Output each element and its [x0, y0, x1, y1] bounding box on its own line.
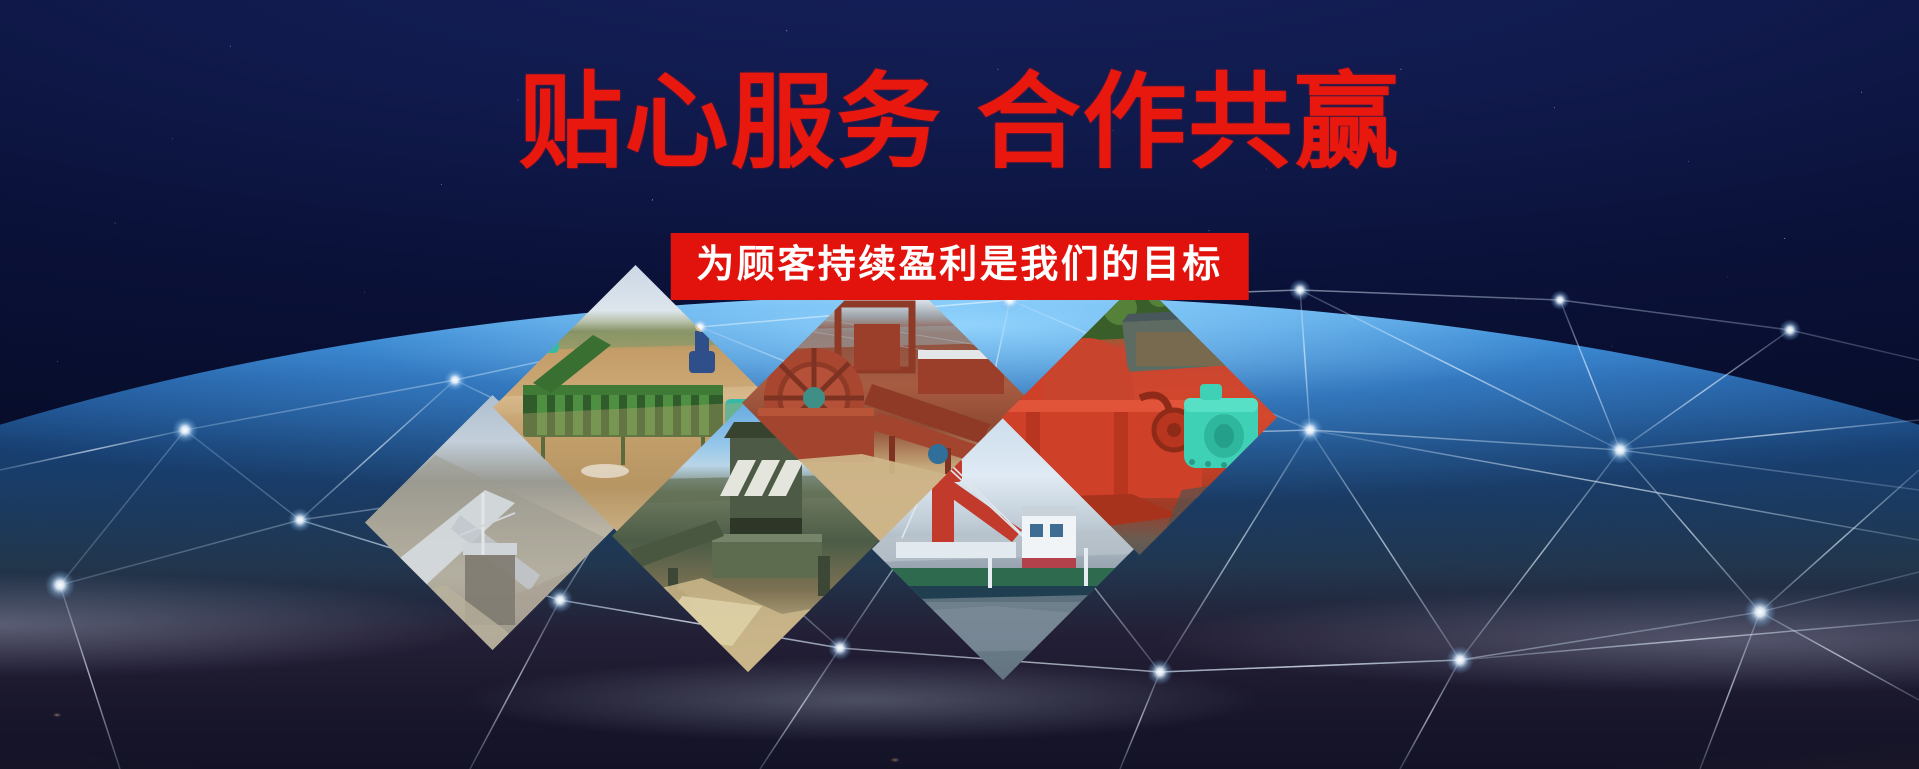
headline-part2: 合作共赢 [977, 61, 1401, 183]
subtitle-banner: 为顾客持续盈利是我们的目标 [670, 233, 1249, 300]
hero-banner: 贴心服务合作共赢 为顾客持续盈利是我们的目标 [0, 0, 1919, 769]
headline-part1: 贴心服务 [518, 61, 942, 183]
page-title: 贴心服务合作共赢 [0, 68, 1919, 176]
subtitle-text: 为顾客持续盈利是我们的目标 [696, 242, 1223, 286]
